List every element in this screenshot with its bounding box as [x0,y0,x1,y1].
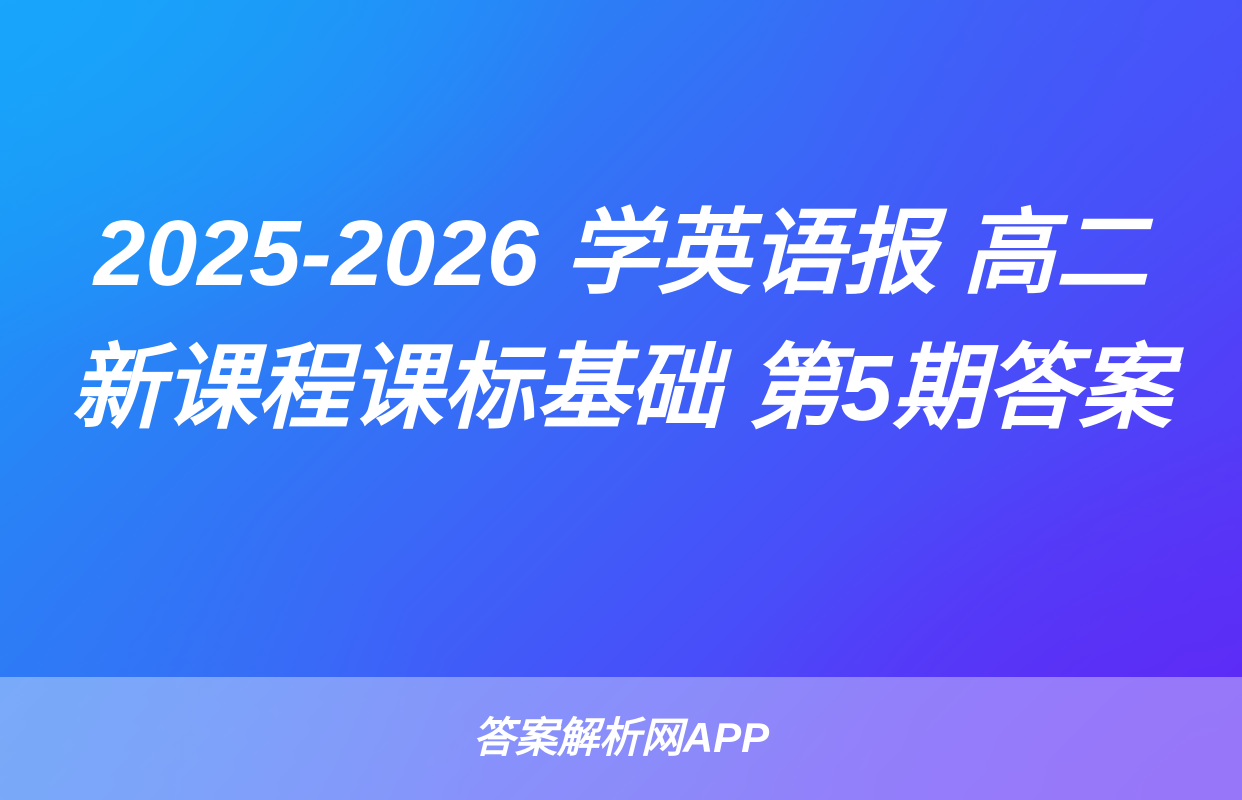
app-watermark-label: 答案解析网APP [473,717,769,759]
poster-title-block: 2025-2026 学英语报 高二 新课程课标基础 第5期答案 [0,186,1242,456]
poster-canvas: 2025-2026 学英语报 高二 新课程课标基础 第5期答案 答案解析网APP [0,0,1242,800]
footer-watermark-band: 答案解析网APP [0,677,1242,800]
page-title: 2025-2026 学英语报 高二 新课程课标基础 第5期答案 [40,186,1202,456]
